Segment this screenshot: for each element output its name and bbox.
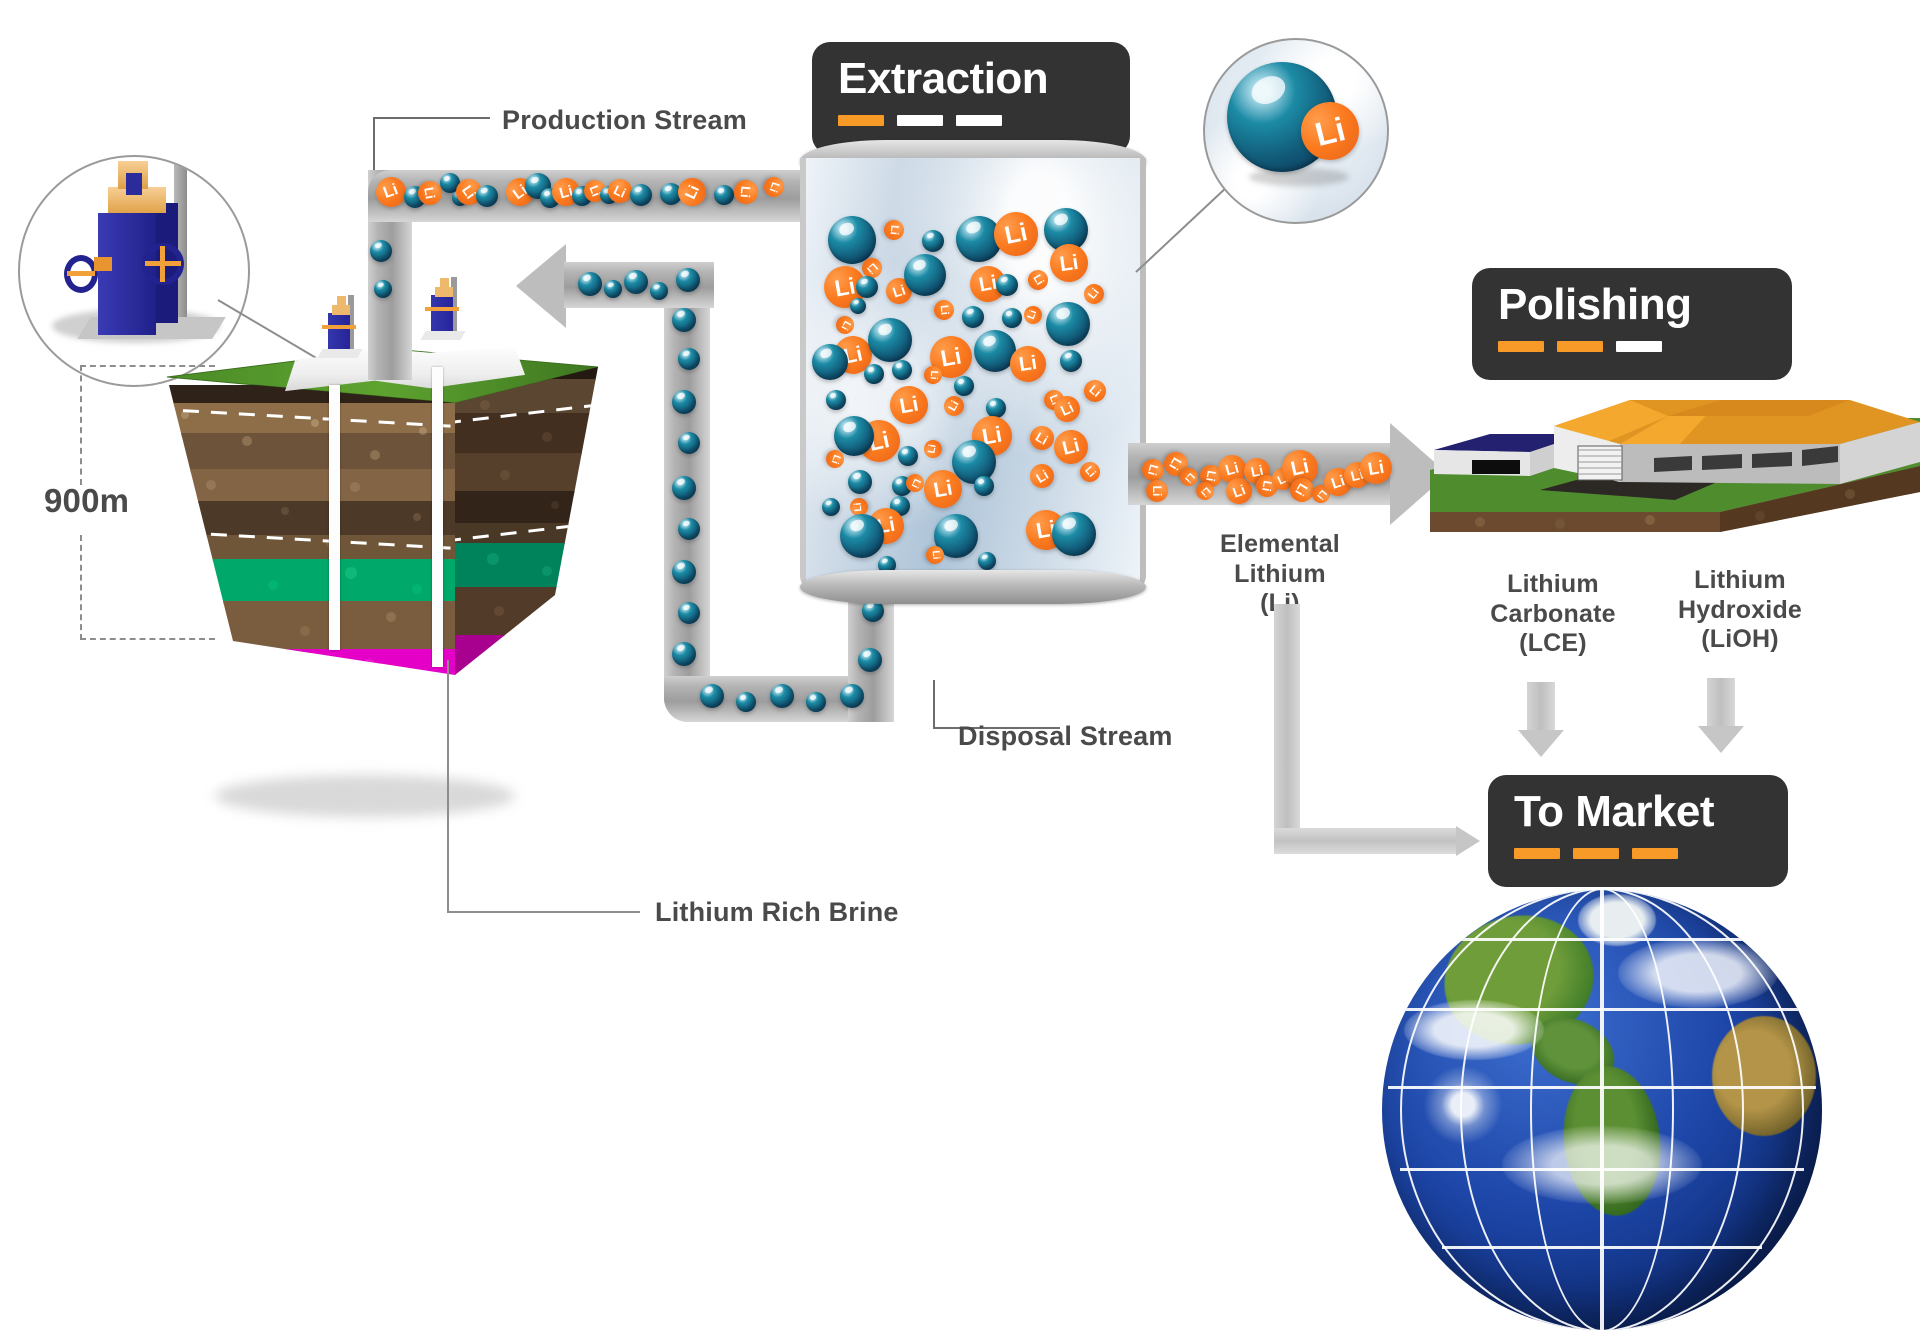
brine-droplet [864, 364, 884, 384]
globe-parallel [1400, 1168, 1804, 1171]
diagram-canvas: 900m [0, 0, 1920, 1080]
brine-droplet [996, 274, 1018, 296]
brine-droplet [476, 185, 498, 207]
brine-droplet [630, 184, 652, 206]
factory-icon [1420, 372, 1920, 532]
stage-banner-to-market: To Market [1488, 775, 1788, 887]
brine-droplet [974, 476, 994, 496]
wellhead-icon-1 [310, 293, 370, 371]
globe-parallel [1442, 1246, 1762, 1249]
li-token: Li [887, 383, 931, 427]
stage-title-polishing: Polishing [1498, 282, 1766, 329]
arrow-down-hydroxide-shaft [1707, 678, 1735, 728]
brine-droplet [678, 348, 700, 370]
well-bore-2 [432, 367, 443, 667]
label-lithium-rich-brine: Lithium Rich Brine [655, 897, 899, 929]
brine-droplet [904, 254, 946, 296]
brine-droplet [826, 390, 846, 410]
brine-droplet [678, 602, 700, 624]
brine-droplet [812, 344, 848, 380]
brine-droplet [672, 390, 696, 414]
brine-droplet [1046, 302, 1090, 346]
strata-right-face [445, 355, 615, 695]
progress-dash-2 [897, 115, 943, 126]
progress-dash-3 [1632, 848, 1678, 859]
stage-title-to-market: To Market [1514, 789, 1762, 836]
brine-droplet [672, 642, 696, 666]
progress-dash-3 [956, 115, 1002, 126]
stage-title-extraction: Extraction [838, 56, 1104, 103]
brine-droplet [898, 446, 918, 466]
brine-droplet [672, 476, 696, 500]
brine-droplet [856, 276, 878, 298]
valve-wheel-left-cross [67, 271, 95, 276]
arrow-market-head [1456, 826, 1480, 856]
globe-parallel [1440, 938, 1764, 941]
progress-dash-3 [1616, 341, 1662, 352]
extraction-tank-icon: Li Li Li Li Li Li Li Li Li Li Li Li Li L… [800, 158, 1146, 590]
brine-droplet [834, 416, 874, 456]
arrow-down-carbonate-head [1518, 730, 1564, 757]
globe-parallel [1388, 1086, 1816, 1089]
valve-wheel-right-cross2 [160, 246, 165, 282]
stage-progress-to-market [1514, 848, 1762, 859]
arrow-down-hydroxide-head [1698, 726, 1744, 753]
arrowhead-disposal [516, 244, 566, 328]
brine-droplet [850, 298, 866, 314]
depth-label: 900m [44, 482, 129, 521]
arrow-market-horizontal [1274, 828, 1459, 854]
brine-droplet [954, 376, 974, 396]
li-token: Li [1076, 458, 1104, 486]
progress-dash-2 [1557, 341, 1603, 352]
brine-droplet [858, 648, 882, 672]
li-token: Li [923, 439, 944, 460]
brine-droplet [678, 518, 700, 540]
wellhead-neck [126, 173, 142, 195]
stage-banner-polishing: Polishing [1472, 268, 1792, 380]
li-token: Li [883, 219, 905, 241]
brine-droplet [1052, 512, 1096, 556]
li-token: Li [933, 299, 955, 321]
brine-droplet [374, 280, 392, 298]
globe-meridian [1400, 890, 1804, 1330]
label-production-stream: Production Stream [502, 105, 747, 137]
li-token: Li [1080, 376, 1111, 407]
li-token: Li [1021, 303, 1044, 326]
well-bore-1 [329, 385, 340, 650]
magnifier-brine-droplet-icon: Li [1203, 38, 1389, 224]
progress-dash-2 [1573, 848, 1619, 859]
earth-cutaway-block [155, 345, 645, 815]
brine-droplet [624, 270, 648, 294]
small-building-door [1472, 460, 1520, 474]
brine-droplet [672, 560, 696, 584]
brine-droplet [1060, 350, 1082, 372]
brine-droplet [700, 684, 724, 708]
label-lithium-hydroxide: Lithium Hydroxide (LiOH) [1640, 566, 1840, 655]
brine-droplet [714, 185, 734, 205]
li-token: Li [1146, 480, 1168, 502]
brine-droplet [370, 240, 392, 262]
brine-droplet [840, 684, 864, 708]
li-token: Li [1026, 460, 1059, 493]
brine-droplet [676, 268, 700, 292]
li-token: Li [1080, 280, 1108, 308]
warehouse-door [1578, 446, 1622, 480]
warehouse-window-3 [1752, 452, 1792, 468]
brine-droplet [578, 272, 602, 296]
brine-droplet [892, 360, 912, 380]
brine-droplet [922, 230, 944, 252]
brine-droplet [604, 280, 622, 298]
brine-droplet [986, 398, 1006, 418]
brine-droplet [868, 318, 912, 362]
brine-droplet [978, 552, 996, 570]
brine-droplet [678, 432, 700, 454]
stage-progress-extraction [838, 115, 1104, 126]
progress-dash-1 [838, 115, 884, 126]
li-token: Li [923, 365, 943, 385]
wellhead-icon-2 [413, 275, 473, 355]
li-token: Li [833, 313, 858, 338]
brine-droplet [736, 692, 756, 712]
arrow-down-carbonate-shaft [1527, 682, 1555, 732]
brine-droplet [650, 282, 668, 300]
brine-droplet [848, 470, 872, 494]
arrow-market-vertical [1274, 604, 1300, 854]
brine-droplet [1002, 308, 1022, 328]
brine-droplet [806, 692, 826, 712]
strata-front-face [155, 385, 465, 699]
stage-banner-extraction: Extraction [812, 42, 1130, 154]
progress-dash-1 [1514, 848, 1560, 859]
label-lithium-carbonate: Lithium Carbonate (LCE) [1458, 570, 1648, 659]
stage-progress-polishing [1498, 341, 1766, 352]
magnifier-shadow [1249, 168, 1349, 186]
tank-rim-bottom [800, 570, 1146, 604]
brine-droplet [770, 684, 794, 708]
brine-droplet [822, 498, 840, 516]
progress-dash-1 [1498, 341, 1544, 352]
li-token: Li [925, 545, 945, 565]
brine-droplet [672, 308, 696, 332]
li-token: Li [940, 392, 967, 419]
li-token: Li [1024, 266, 1051, 293]
brine-droplet [840, 514, 884, 558]
warehouse-window-1 [1654, 456, 1692, 472]
globe-parallel [1404, 1008, 1800, 1011]
warehouse-window-2 [1702, 454, 1742, 470]
brine-droplet [962, 306, 984, 328]
valve-stem [94, 257, 112, 271]
label-disposal-stream: Disposal Stream [958, 721, 1173, 753]
brine-droplet [828, 216, 876, 264]
globe-icon [1382, 890, 1822, 1330]
earth-strata-svg [155, 345, 645, 815]
